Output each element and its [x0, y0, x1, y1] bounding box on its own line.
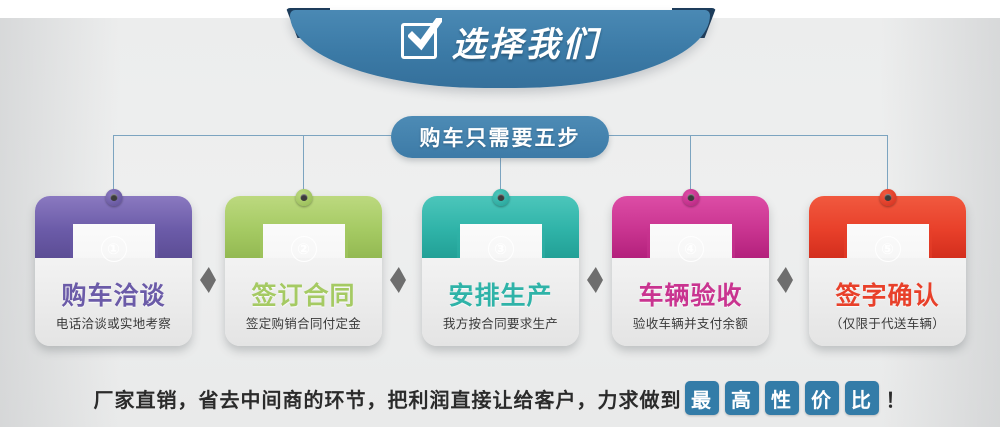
header-banner-group: 选择我们	[0, 0, 1000, 92]
step-card-5[interactable]: ⑤ 签字确认 （仅限于代送车辆）	[809, 196, 966, 346]
step-subtitle-1: 电话洽谈或实地考察	[35, 313, 192, 332]
footer-lead-text: 厂家直销，省去中间商的环节，把利润直接让给客户，力求做到	[94, 384, 682, 413]
step-number-1: ①	[101, 236, 127, 262]
footer-highlight-5: 比	[845, 381, 879, 415]
footer-highlight-4: 价	[805, 381, 839, 415]
header-banner: 选择我们	[290, 10, 710, 88]
step-subtitle-3: 我方按合同要求生产	[422, 313, 579, 332]
footer-highlight-3: 性	[765, 381, 799, 415]
grommet-hole-3	[492, 189, 509, 206]
step-card-3[interactable]: ③ 安排生产 我方按合同要求生产	[422, 196, 579, 346]
footer-highlight-group: 最高性价比	[682, 381, 882, 415]
step-card-1[interactable]: ① 购车洽谈 电话洽谈或实地考察	[35, 196, 192, 346]
footer-slogan: 厂家直销，省去中间商的环节，把利润直接让给客户，力求做到 最高性价比 ！	[0, 377, 1000, 419]
step-title-3: 安排生产	[422, 276, 579, 312]
step-title-2: 签订合同	[225, 276, 382, 312]
step-card-4[interactable]: ④ 车辆验收 验收车辆并支付余额	[612, 196, 769, 346]
step-title-4: 车辆验收	[612, 276, 769, 312]
step-card-2[interactable]: ② 签订合同 签定购销合同付定金	[225, 196, 382, 346]
infographic-root: 选择我们 购车只需要五步 ① 购车洽谈 电话洽谈或实地考察 ② 签订合同 签定	[0, 0, 1000, 427]
footer-trailing-text: ！	[886, 384, 907, 413]
step-subtitle-5: （仅限于代送车辆）	[809, 313, 966, 332]
grommet-hole-4	[682, 189, 699, 206]
subtitle-text: 购车只需要五步	[420, 122, 581, 152]
grommet-hole-1	[105, 189, 122, 206]
grommet-hole-2	[295, 189, 312, 206]
checkbox-checked-icon	[401, 23, 437, 59]
step-number-3: ③	[488, 236, 514, 262]
grommet-hole-5	[879, 189, 896, 206]
step-number-4: ④	[678, 236, 704, 262]
banner-title: 选择我们	[452, 17, 600, 66]
step-number-2: ②	[291, 236, 317, 262]
step-title-1: 购车洽谈	[35, 276, 192, 312]
subtitle-pill: 购车只需要五步	[391, 116, 609, 158]
step-number-5: ⑤	[875, 236, 901, 262]
step-title-5: 签字确认	[809, 276, 966, 312]
footer-highlight-2: 高	[725, 381, 759, 415]
footer-highlight-1: 最	[685, 381, 719, 415]
step-subtitle-4: 验收车辆并支付余额	[612, 313, 769, 332]
step-subtitle-2: 签定购销合同付定金	[225, 313, 382, 332]
